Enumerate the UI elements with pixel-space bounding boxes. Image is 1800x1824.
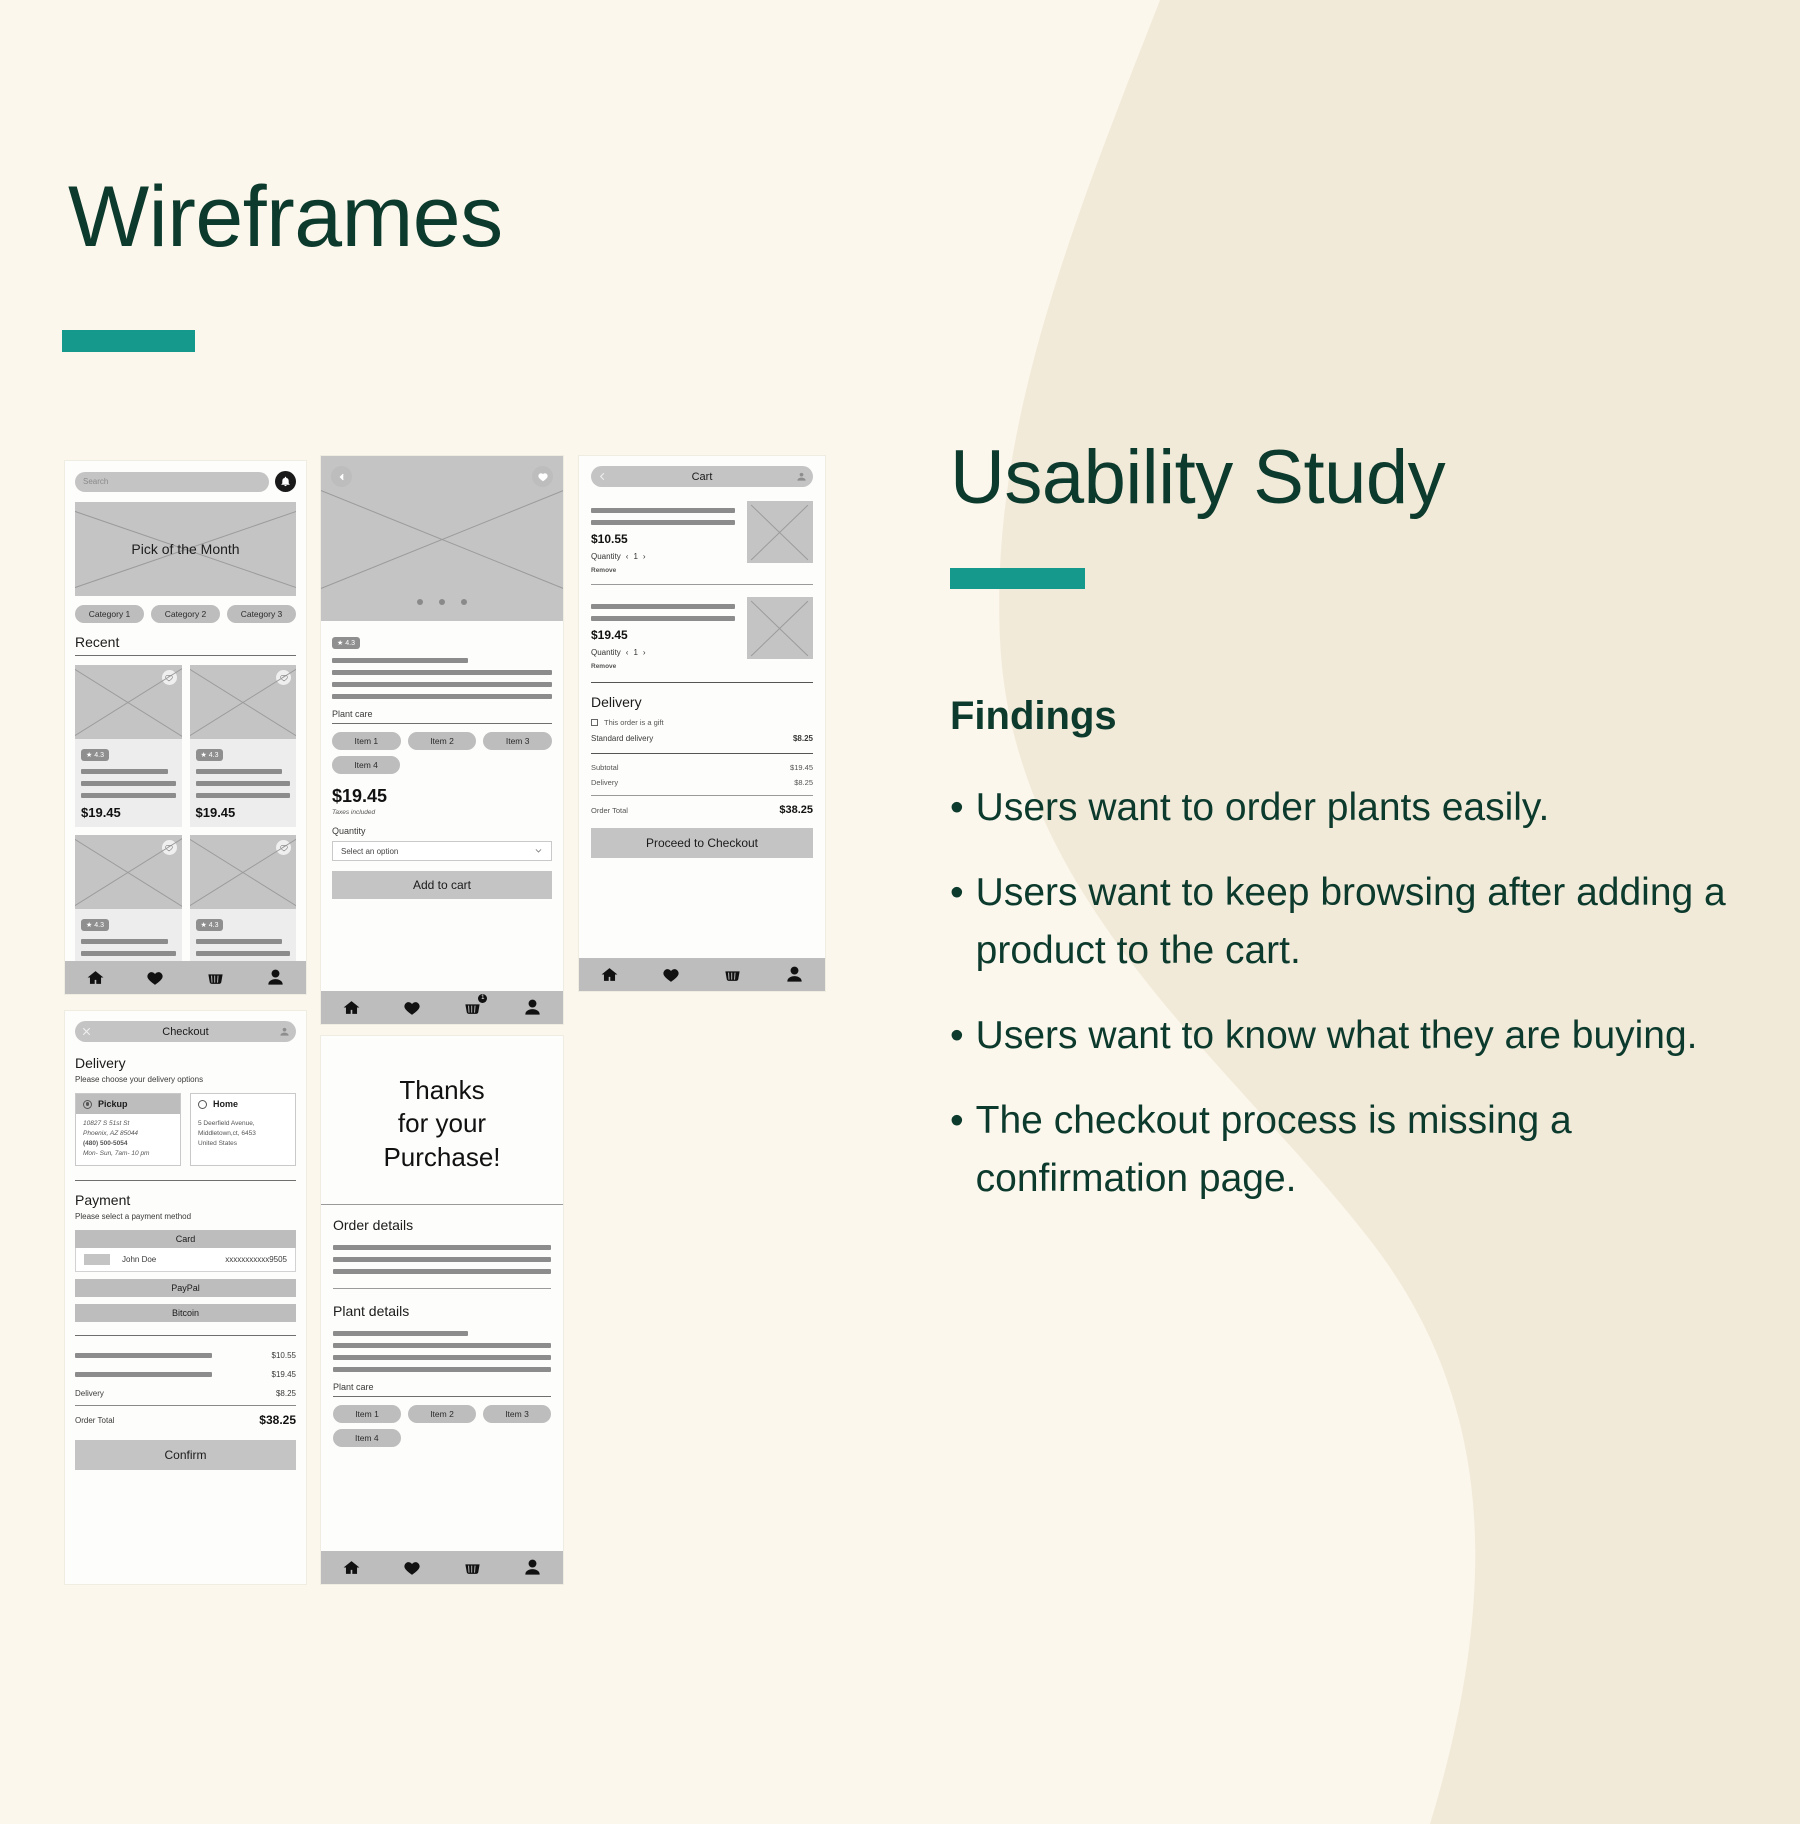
category-chip[interactable]: Category 2 xyxy=(151,605,220,623)
standard-delivery-price: $8.25 xyxy=(793,734,813,743)
plant-care-heading: Plant care xyxy=(333,1382,551,1392)
cart-titlebar: Cart xyxy=(591,466,813,487)
delivery-option-name: Home xyxy=(213,1099,238,1109)
plant-care-heading: Plant care xyxy=(332,709,552,719)
findings-heading: Findings xyxy=(950,694,1740,739)
product-price: $19.45 xyxy=(332,786,387,806)
home-icon[interactable] xyxy=(340,1557,362,1579)
home-topbar: Search xyxy=(75,471,296,492)
product-image-placeholder xyxy=(75,835,182,909)
remove-link[interactable]: Remove xyxy=(591,567,735,574)
product-card[interactable]: ★ 4.3 $19.45 xyxy=(190,665,297,827)
quantity-value: 1 xyxy=(633,552,637,561)
finding-text: The checkout process is missing a confir… xyxy=(976,1092,1740,1207)
address-line: 5 Deerfield Avenue, xyxy=(198,1120,288,1127)
cart-item-price: $10.55 xyxy=(591,532,735,546)
remove-link[interactable]: Remove xyxy=(591,663,735,670)
wireframe-home-screen: Search Pick of the Month Category 1 Cate… xyxy=(64,460,307,995)
care-item-chip[interactable]: Item 2 xyxy=(408,732,477,750)
plant-details-heading: Plant details xyxy=(333,1303,551,1319)
care-item-chip[interactable]: Item 1 xyxy=(333,1405,401,1423)
bottom-navigation xyxy=(579,958,825,991)
finding-item: • Users want to know what they are buyin… xyxy=(950,1007,1740,1064)
favorite-heart-icon[interactable] xyxy=(276,670,291,685)
close-icon[interactable] xyxy=(81,1026,92,1037)
product-card[interactable]: ★ 4.3 xyxy=(75,835,182,970)
care-item-chip[interactable]: Item 4 xyxy=(333,1429,401,1447)
hero-image-placeholder: Pick of the Month xyxy=(75,502,296,596)
product-card[interactable]: ★ 4.3 $19.45 xyxy=(75,665,182,827)
quantity-select[interactable]: Select an option xyxy=(332,841,552,861)
product-image-placeholder xyxy=(190,665,297,739)
items-value: $19.45 xyxy=(272,1370,296,1379)
order-total-label: Order Total xyxy=(75,1416,114,1425)
carousel-dot[interactable] xyxy=(417,599,423,605)
profile-icon[interactable] xyxy=(796,471,807,482)
usability-study-panel: Usability Study Findings • Users want to… xyxy=(950,440,1740,1235)
finding-item: • Users want to order plants easily. xyxy=(950,779,1740,836)
card-brand-icon xyxy=(84,1254,110,1265)
decrement-button[interactable]: ‹ xyxy=(626,648,629,657)
rating-badge: ★ 4.3 xyxy=(81,919,109,931)
card-holder-name: John Doe xyxy=(122,1255,156,1264)
delivery-heading: Delivery xyxy=(591,694,813,710)
confirm-button[interactable]: Confirm xyxy=(75,1440,296,1470)
cart-item-image-placeholder xyxy=(747,597,813,659)
profile-icon[interactable] xyxy=(783,964,805,986)
product-gallery-placeholder xyxy=(321,456,563,621)
bullet-glyph: • xyxy=(950,864,964,979)
delivery-subtitle: Please choose your delivery options xyxy=(75,1075,296,1084)
product-image-placeholder xyxy=(75,665,182,739)
carousel-dot[interactable] xyxy=(461,599,467,605)
study-accent-rule xyxy=(950,568,1085,589)
cart-title: Cart xyxy=(692,471,713,483)
quantity-label: Quantity xyxy=(591,552,621,561)
hero-label: Pick of the Month xyxy=(131,541,239,557)
chevron-left-icon[interactable] xyxy=(597,471,608,482)
finding-text: Users want to order plants easily. xyxy=(976,779,1550,836)
chevron-down-icon[interactable] xyxy=(534,846,543,857)
wireframe-confirmation-screen: Thanks for your Purchase! Order details … xyxy=(320,1035,564,1585)
address-country: United States xyxy=(198,1140,288,1147)
delivery-option-home[interactable]: Home 5 Deerfield Avenue, Middletown,ct, … xyxy=(190,1093,296,1166)
heart-icon[interactable] xyxy=(144,967,166,989)
gift-checkbox[interactable] xyxy=(591,719,598,726)
care-item-chip[interactable]: Item 2 xyxy=(408,1405,476,1423)
basket-icon[interactable] xyxy=(461,1557,483,1579)
radio-pickup[interactable] xyxy=(83,1100,92,1109)
profile-icon[interactable] xyxy=(522,1557,544,1579)
study-title: Usability Study xyxy=(950,440,1740,516)
basket-icon[interactable] xyxy=(205,967,227,989)
favorite-heart-icon[interactable] xyxy=(276,840,291,855)
basket-icon[interactable]: 1 xyxy=(461,997,483,1019)
checkout-titlebar: Checkout xyxy=(75,1021,296,1042)
headline-line: Purchase! xyxy=(335,1141,549,1174)
card-details-row: John Doe xxxxxxxxxxx9505 xyxy=(75,1248,296,1272)
standard-delivery-label: Standard delivery xyxy=(591,734,653,743)
home-icon[interactable] xyxy=(599,964,621,986)
care-item-chip[interactable]: Item 4 xyxy=(332,756,400,774)
subtotal-value: $10.55 xyxy=(272,1351,296,1360)
quantity-label: Quantity xyxy=(332,826,552,836)
finding-text: Users want to know what they are buying. xyxy=(976,1007,1698,1064)
product-image-placeholder xyxy=(190,835,297,909)
bell-icon[interactable] xyxy=(275,471,296,492)
rating-badge: ★ 4.3 xyxy=(196,749,224,761)
category-chip[interactable]: Category 1 xyxy=(75,605,144,623)
home-icon[interactable] xyxy=(84,967,106,989)
title-accent-rule xyxy=(62,330,195,352)
recent-heading: Recent xyxy=(75,634,296,650)
proceed-to-checkout-button[interactable]: Proceed to Checkout xyxy=(591,828,813,858)
home-icon[interactable] xyxy=(340,997,362,1019)
search-input[interactable]: Search xyxy=(75,472,269,492)
delivery-value: $8.25 xyxy=(794,778,813,787)
checkout-title: Checkout xyxy=(162,1026,208,1038)
rating-badge: ★ 4.3 xyxy=(81,749,109,761)
favorite-heart-icon[interactable] xyxy=(162,840,177,855)
card-number: xxxxxxxxxxx9505 xyxy=(225,1255,287,1264)
product-card[interactable]: ★ 4.3 xyxy=(190,835,297,970)
address-line: 10827 S 51st St xyxy=(83,1120,173,1127)
care-item-chip[interactable]: Item 3 xyxy=(483,1405,551,1423)
carousel-dots[interactable] xyxy=(321,599,563,605)
headline-line: Thanks xyxy=(335,1074,549,1107)
radio-home[interactable] xyxy=(198,1100,207,1109)
subtotal-label: Subtotal xyxy=(591,763,619,772)
favorite-heart-icon[interactable] xyxy=(532,466,553,487)
headline-line: for your xyxy=(335,1107,549,1140)
rating-badge: ★ 4.3 xyxy=(332,637,360,649)
order-total-value: $38.25 xyxy=(779,804,813,816)
profile-icon[interactable] xyxy=(522,997,544,1019)
finding-item: • The checkout process is missing a conf… xyxy=(950,1092,1740,1207)
wireframe-checkout-screen: Checkout Delivery Please choose your del… xyxy=(64,1010,307,1585)
order-details-heading: Order details xyxy=(333,1217,551,1233)
rating-badge: ★ 4.3 xyxy=(196,919,224,931)
cart-item-row: $10.55 Quantity ‹ 1 › Remove xyxy=(591,501,813,574)
quantity-stepper[interactable]: Quantity ‹ 1 › xyxy=(591,648,735,657)
payment-subtitle: Please select a payment method xyxy=(75,1212,296,1221)
quantity-stepper[interactable]: Quantity ‹ 1 › xyxy=(591,552,735,561)
subtotal-value: $19.45 xyxy=(790,763,813,772)
payment-heading: Payment xyxy=(75,1192,296,1208)
payment-method-paypal[interactable]: PayPal xyxy=(75,1279,296,1297)
heart-icon[interactable] xyxy=(401,1557,423,1579)
findings-list: • Users want to order plants easily. • U… xyxy=(950,779,1740,1207)
profile-icon[interactable] xyxy=(265,967,287,989)
add-to-cart-button[interactable]: Add to cart xyxy=(332,871,552,899)
cart-item-row: $19.45 Quantity ‹ 1 › Remove xyxy=(591,597,813,670)
order-total-value: $38.25 xyxy=(259,1413,296,1427)
delivery-heading: Delivery xyxy=(75,1055,296,1071)
carousel-dot[interactable] xyxy=(439,599,445,605)
bottom-navigation: 1 xyxy=(321,991,563,1024)
bullet-glyph: • xyxy=(950,1007,964,1064)
wireframe-cart-screen: Cart $10.55 Quantity ‹ 1 › Remove xyxy=(578,455,826,992)
category-chip[interactable]: Category 3 xyxy=(227,605,296,623)
cart-count-badge: 1 xyxy=(478,994,487,1003)
decrement-button[interactable]: ‹ xyxy=(626,552,629,561)
favorite-heart-icon[interactable] xyxy=(162,670,177,685)
delivery-option-name: Pickup xyxy=(98,1099,128,1109)
increment-button[interactable]: › xyxy=(643,648,646,657)
increment-button[interactable]: › xyxy=(643,552,646,561)
gift-label: This order is a gift xyxy=(604,718,664,727)
basket-icon[interactable] xyxy=(722,964,744,986)
care-item-chip[interactable]: Item 3 xyxy=(483,732,552,750)
address-line: Middletown,ct, 6453 xyxy=(198,1130,288,1137)
delivery-label: Delivery xyxy=(591,778,618,787)
bullet-glyph: • xyxy=(950,779,964,836)
finding-text: Users want to keep browsing after adding… xyxy=(976,864,1740,979)
profile-icon[interactable] xyxy=(279,1026,290,1037)
care-item-chip[interactable]: Item 1 xyxy=(332,732,401,750)
delivery-label: Delivery xyxy=(75,1389,104,1398)
page-title: Wireframes xyxy=(68,168,503,267)
address-line: Phoenix, AZ 85044 xyxy=(83,1130,173,1137)
select-placeholder: Select an option xyxy=(341,847,398,856)
delivery-option-pickup[interactable]: Pickup 10827 S 51st St Phoenix, AZ 85044… xyxy=(75,1093,181,1166)
order-total-label: Order Total xyxy=(591,806,628,815)
wireframe-product-detail-screen: ★ 4.3 Plant care Item 1 Item 2 Item 3 It… xyxy=(320,455,564,1025)
cart-item-image-placeholder xyxy=(747,501,813,563)
thanks-headline: Thanks for your Purchase! xyxy=(335,1074,549,1174)
bullet-glyph: • xyxy=(950,1092,964,1207)
heart-icon[interactable] xyxy=(401,997,423,1019)
product-price: $19.45 xyxy=(196,805,291,820)
address-hours: Mon- Sun, 7am- 10 pm xyxy=(83,1150,173,1157)
tax-note: Taxes included xyxy=(332,809,552,816)
chevron-left-icon[interactable] xyxy=(331,466,352,487)
product-price: $19.45 xyxy=(81,805,176,820)
quantity-label: Quantity xyxy=(591,648,621,657)
quantity-value: 1 xyxy=(633,648,637,657)
address-phone: (480) 500-5054 xyxy=(83,1140,173,1147)
cart-item-price: $19.45 xyxy=(591,628,735,642)
bottom-navigation xyxy=(321,1551,563,1584)
heart-icon[interactable] xyxy=(660,964,682,986)
delivery-value: $8.25 xyxy=(276,1389,296,1398)
bottom-navigation xyxy=(65,961,306,994)
payment-method-bitcoin[interactable]: Bitcoin xyxy=(75,1304,296,1322)
finding-item: • Users want to keep browsing after addi… xyxy=(950,864,1740,979)
payment-method-card[interactable]: Card xyxy=(75,1230,296,1248)
